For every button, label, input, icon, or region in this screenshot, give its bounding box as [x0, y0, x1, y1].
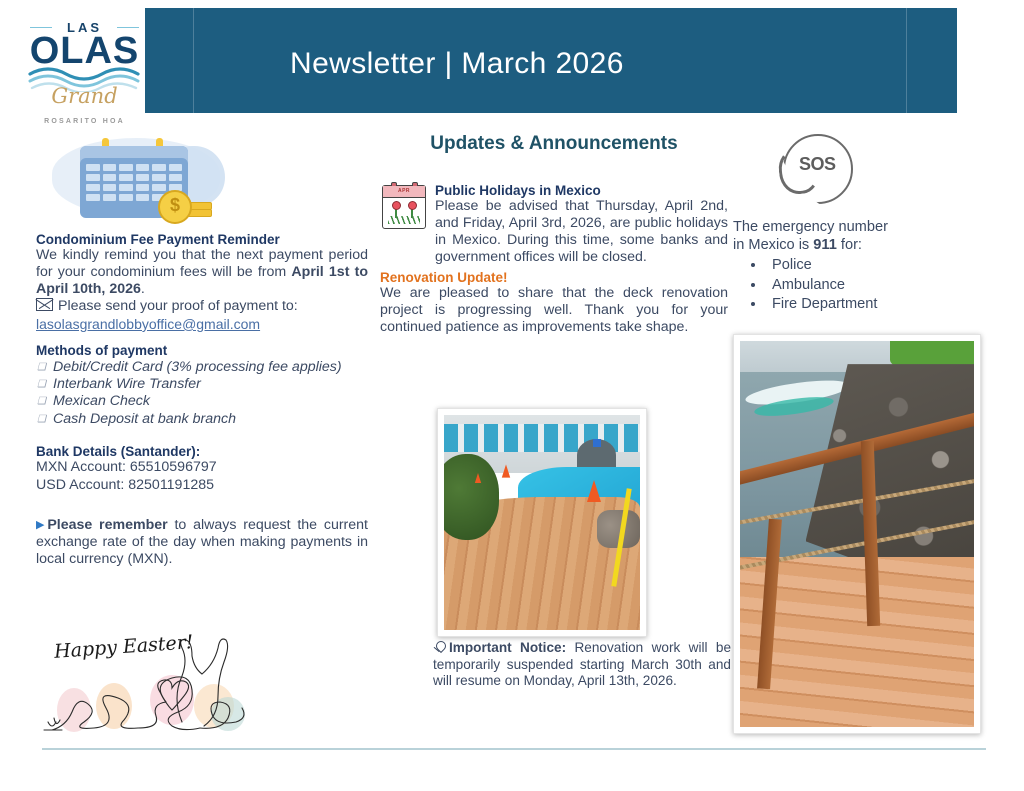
renovation-update-block: Renovation Update! We are pleased to sha…	[380, 270, 728, 336]
payment-method-label: Cash Deposit at bank branch	[53, 411, 236, 427]
payment-method-label: Interbank Wire Transfer	[53, 376, 201, 392]
list-item: ❑Interbank Wire Transfer	[36, 376, 368, 393]
bank-mxn-account: MXN Account: 65510596797	[36, 459, 368, 477]
bullet-glyph-icon: ❑	[37, 379, 47, 391]
payment-methods-list: ❑Debit/Credit Card (3% processing fee ap…	[36, 359, 368, 428]
calendar-coins-icon: $	[44, 132, 229, 224]
emergency-line-2b: for:	[837, 237, 862, 253]
center-column: Updates & Announcements APR Public Holid…	[380, 133, 728, 336]
logo-subtitle: ROSARITO HOA	[22, 118, 147, 125]
newsletter-page: Newsletter | March 2026 LAS OLAS Grand R…	[0, 0, 1024, 791]
list-item: Fire Department	[766, 295, 983, 314]
payment-methods-block: Methods of payment ❑Debit/Credit Card (3…	[36, 343, 368, 428]
bullet-glyph-icon: ❑	[37, 362, 47, 374]
public-holidays-body: Please be advised that Thursday, April 2…	[435, 198, 728, 266]
bank-details-block: Bank Details (Santander): MXN Account: 6…	[36, 444, 368, 495]
list-item: Ambulance	[766, 276, 983, 295]
remember-bold-text: Please remember	[47, 517, 167, 533]
bank-details-heading: Bank Details (Santander):	[36, 444, 368, 459]
exchange-rate-reminder: ▶Please remember to always request the c…	[36, 517, 368, 569]
fee-reminder-body: We kindly remind you that the next payme…	[36, 247, 368, 298]
payment-methods-heading: Methods of payment	[36, 343, 368, 358]
brand-logo: LAS OLAS Grand ROSARITO HOA	[22, 14, 147, 126]
right-column: SOS The emergency number in Mexico is 91…	[733, 134, 983, 314]
deck-railing-photo	[733, 334, 981, 734]
list-item: Police	[766, 256, 983, 275]
important-notice-label: Important Notice:	[449, 640, 566, 655]
bullet-glyph-icon: ❑	[37, 414, 47, 426]
fee-reminder-block: Condominium Fee Payment Reminder We kind…	[36, 232, 368, 332]
emergency-line-1: The emergency number	[733, 219, 888, 235]
logo-script-text: Grand	[22, 84, 147, 108]
emergency-services-list: Police Ambulance Fire Department	[733, 256, 983, 314]
section-title: Updates & Announcements	[380, 133, 728, 155]
office-email-link[interactable]: lasolasgrandlobbyoffice@gmail.com	[36, 316, 368, 332]
renovation-update-heading: Renovation Update!	[380, 270, 728, 285]
important-notice: Important Notice: Renovation work will b…	[433, 640, 731, 690]
sos-emergency-icon: SOS	[775, 134, 857, 202]
proof-of-payment-text: Please send your proof of payment to:	[58, 298, 298, 314]
public-holidays-heading: Public Holidays in Mexico	[435, 183, 728, 198]
renovation-update-body: We are pleased to share that the deck re…	[380, 285, 728, 336]
list-item: ❑Cash Deposit at bank branch	[36, 411, 368, 428]
happy-easter-illustration: Happy Easter!	[32, 618, 254, 736]
footer-divider	[42, 748, 986, 750]
banner-divider-right	[906, 8, 907, 113]
sos-label: SOS	[799, 154, 836, 175]
fee-reminder-heading: Condominium Fee Payment Reminder	[36, 232, 368, 247]
envelope-icon	[36, 298, 53, 311]
emergency-number: 911	[813, 237, 837, 253]
list-item: ❑Mexican Check	[36, 393, 368, 410]
payment-method-label: Debit/Credit Card (3% processing fee app…	[53, 359, 342, 375]
banner-divider-left	[193, 8, 194, 113]
triangle-bullet-icon: ▶	[36, 519, 47, 531]
left-column: $ Condominium Fee Payment Reminder We ki…	[36, 132, 368, 569]
public-holidays-block: APR Public Holidays in Mexico Please be …	[380, 183, 728, 266]
emergency-number-text: The emergency number in Mexico is 911 fo…	[733, 218, 983, 254]
pushpin-icon	[433, 641, 446, 654]
fee-body-part-2: .	[141, 281, 145, 297]
emergency-line-2a: in Mexico is	[733, 237, 813, 253]
bank-usd-account: USD Account: 82501191285	[36, 477, 368, 495]
proof-of-payment-row: Please send your proof of payment to:	[36, 298, 368, 316]
calendar-month-label: APR	[383, 186, 425, 198]
page-title: Newsletter | March 2026	[290, 47, 624, 81]
calendar-april-icon: APR	[382, 185, 426, 229]
payment-method-label: Mexican Check	[53, 393, 150, 409]
pool-deck-photo	[437, 408, 647, 637]
bullet-glyph-icon: ❑	[37, 396, 47, 408]
list-item: ❑Debit/Credit Card (3% processing fee ap…	[36, 359, 368, 376]
